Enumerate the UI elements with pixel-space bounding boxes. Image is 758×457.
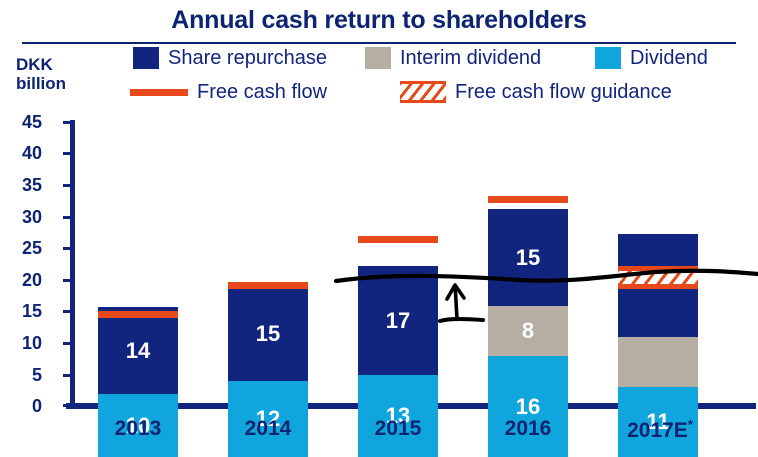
y-tick-label-40: 40 xyxy=(0,143,42,164)
plot-area: 45 40 35 30 25 20 15 10 5 0 10 14 xyxy=(0,0,758,457)
bar-value-dividend-2016: 16 xyxy=(516,394,540,420)
y-tick-label-0: 0 xyxy=(0,396,42,417)
free-cash-flow-marker-2013 xyxy=(98,311,178,318)
bar-segment-dividend-2016[interactable]: 16 xyxy=(488,356,568,457)
y-tick-label-35: 35 xyxy=(0,175,42,196)
bar-segment-share-repurchase-2015[interactable]: 17 xyxy=(358,266,438,375)
bar-group-2016[interactable]: 16 8 15 xyxy=(488,54,568,457)
bar-group-2017e[interactable]: 11 16 xyxy=(618,54,698,457)
y-tick-label-15: 15 xyxy=(0,301,42,322)
x-tick-label-2015: 2015 xyxy=(358,417,438,441)
y-axis-line xyxy=(70,120,75,408)
bar-segment-share-repurchase-2014[interactable]: 15 xyxy=(228,287,308,381)
free-cash-flow-marker-2016 xyxy=(488,196,568,203)
bar-group-2013[interactable]: 10 14 xyxy=(98,54,178,457)
x-tick-label-2013: 2013 xyxy=(98,417,178,441)
bar-segment-interim-dividend-2016[interactable]: 8 xyxy=(488,306,568,356)
bar-group-2015[interactable]: 13 17 xyxy=(358,54,438,457)
x-tick-label-2017e: 2017E* xyxy=(614,417,706,443)
bar-value-share-repurchase-2014: 15 xyxy=(256,321,280,347)
free-cash-flow-marker-2015 xyxy=(358,236,438,243)
chart-canvas: Annual cash return to shareholders DKK b… xyxy=(0,0,758,457)
bar-value-interim-dividend-2016: 8 xyxy=(522,318,534,344)
y-tick-label-45: 45 xyxy=(0,112,42,133)
bar-segment-dividend-2015[interactable]: 13 xyxy=(358,375,438,457)
bar-segment-share-repurchase-2016[interactable]: 15 xyxy=(488,209,568,306)
y-tick-label-30: 30 xyxy=(0,207,42,228)
x-tick-label-2014: 2014 xyxy=(228,417,308,441)
free-cash-flow-marker-2014 xyxy=(228,282,308,289)
y-tick-label-25: 25 xyxy=(0,238,42,259)
bar-group-2014[interactable]: 12 15 xyxy=(228,54,308,457)
bar-value-share-repurchase-2016: 15 xyxy=(516,245,540,271)
bar-segment-interim-dividend-2017e[interactable] xyxy=(618,337,698,387)
x-tick-label-footnote-asterisk: * xyxy=(688,417,693,432)
y-tick-label-10: 10 xyxy=(0,333,42,354)
y-tick-label-5: 5 xyxy=(0,365,42,386)
bar-segment-share-repurchase-2013[interactable]: 14 xyxy=(98,307,178,394)
y-tick-label-20: 20 xyxy=(0,270,42,291)
x-tick-label-2016: 2016 xyxy=(488,417,568,441)
free-cash-flow-guidance-band-2017e xyxy=(618,266,698,289)
bar-value-share-repurchase-2015: 17 xyxy=(386,308,410,334)
bar-value-share-repurchase-2013: 14 xyxy=(126,338,150,364)
x-tick-label-2017e-text: 2017E xyxy=(627,419,688,442)
